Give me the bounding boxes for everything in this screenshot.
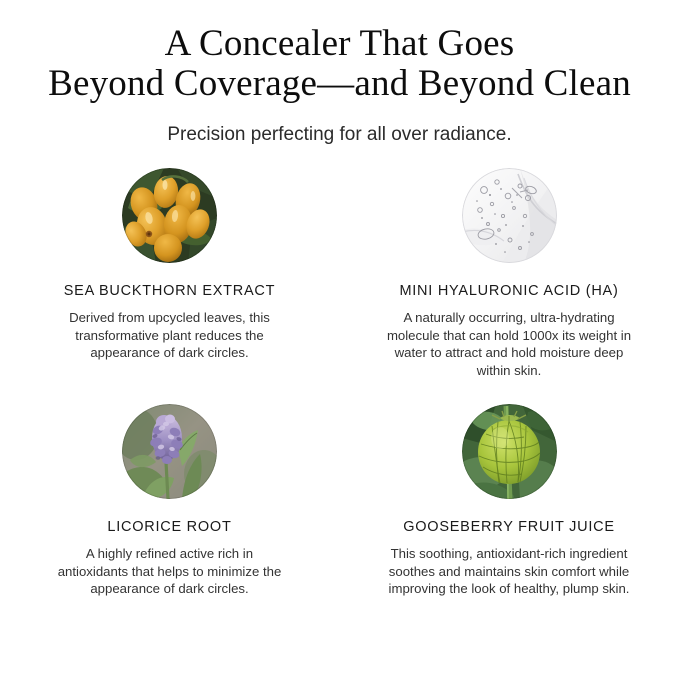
ingredient-card-gooseberry: GOOSEBERRY FRUIT JUICE This soothing, an… [339, 404, 679, 598]
ingredient-benefits-panel: A Concealer That Goes Beyond Coverage—an… [0, 0, 679, 679]
ingredient-card-hyaluronic-acid: MINI HYALURONIC ACID (HA) A naturally oc… [339, 168, 679, 404]
ingredient-name: MINI HYALURONIC ACID (HA) [399, 283, 618, 299]
ingredient-card-sea-buckthorn: SEA BUCKTHORN EXTRACT Derived from upcyc… [0, 168, 339, 404]
licorice-root-flower-image [122, 404, 217, 499]
ingredient-card-licorice-root: LICORICE ROOT A highly refined active ri… [0, 404, 339, 598]
header: A Concealer That Goes Beyond Coverage—an… [0, 24, 679, 147]
ingredient-description: This soothing, antioxidant-rich ingredie… [382, 545, 636, 598]
ingredient-description: Derived from upcycled leaves, this trans… [54, 309, 286, 362]
ingredient-name: LICORICE ROOT [107, 519, 231, 535]
page-title: A Concealer That Goes Beyond Coverage—an… [0, 24, 679, 104]
ingredient-name: SEA BUCKTHORN EXTRACT [64, 283, 276, 299]
headline-line-1: A Concealer That Goes [0, 24, 679, 64]
gooseberry-fruit-image [462, 404, 557, 499]
hyaluronic-acid-gel-image [462, 168, 557, 263]
page-subtitle: Precision perfecting for all over radian… [0, 104, 679, 147]
headline-line-2: Beyond Coverage—and Beyond Clean [0, 64, 679, 104]
ingredient-grid: SEA BUCKTHORN EXTRACT Derived from upcyc… [0, 168, 679, 598]
ingredient-description: A naturally occurring, ultra-hydrating m… [382, 309, 636, 379]
sea-buckthorn-berries-image [122, 168, 217, 263]
ingredient-description: A highly refined active rich in antioxid… [54, 545, 286, 598]
ingredient-name: GOOSEBERRY FRUIT JUICE [403, 519, 615, 535]
